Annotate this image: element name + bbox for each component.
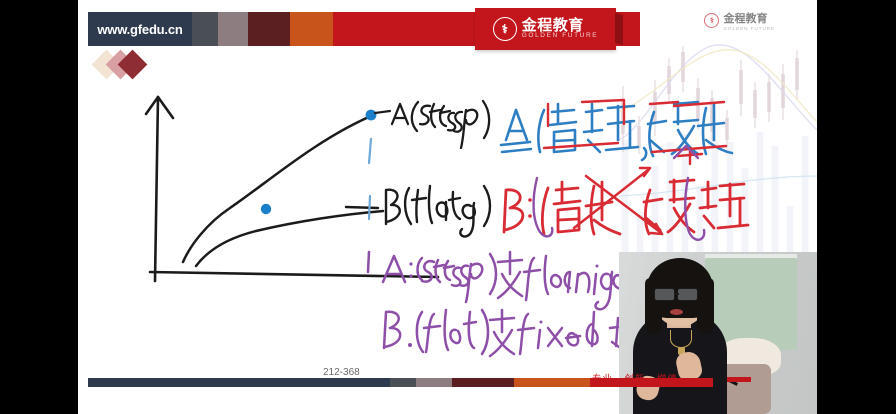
cam-glasses-right-icon [677,288,698,301]
cam-necklace [670,330,692,348]
footer-band-mauve [416,378,452,387]
cam-glasses-bridge [675,293,679,295]
brand-logo-watermark: ⚕ 金程教育 GOLDEN FUTURE [704,10,775,31]
page-number: 212-368 [323,367,360,378]
label-b-flat [386,186,490,237]
tagline-dash [727,377,751,382]
screen-recording-frame: www.gfedu.cn ⚕ 金程教育 GOLDEN FUTURE ⚕ 金程 [0,0,896,414]
cam-person-mouth [670,309,683,315]
curve-a-steep [183,116,371,262]
curve-b-flat [196,211,383,266]
cam-person-bangs [652,268,708,288]
brand-seal-watermark-icon: ⚕ [704,13,719,28]
marker-dot-b [261,204,271,214]
footer-band-slate [88,378,390,387]
instructor-video-feed[interactable] [619,252,817,414]
brand-tagline: 专业 · 创新 · 增值 [592,371,678,385]
label-a-steep [392,101,489,148]
presentation-slide: www.gfedu.cn ⚕ 金程教育 GOLDEN FUTURE ⚕ 金程 [78,0,817,414]
footer-band-maroon [452,378,514,387]
axis-lines [146,97,438,281]
marker-dot-a [366,110,377,121]
footer-band-orange [514,378,590,387]
brand-name-en-watermark: GOLDEN FUTURE [723,26,775,31]
brand-name-cn-watermark: 金程教育 [723,10,775,26]
footer-band-gray [390,378,416,387]
cam-glasses-left-icon [654,288,675,301]
blue-note-a [501,102,732,160]
